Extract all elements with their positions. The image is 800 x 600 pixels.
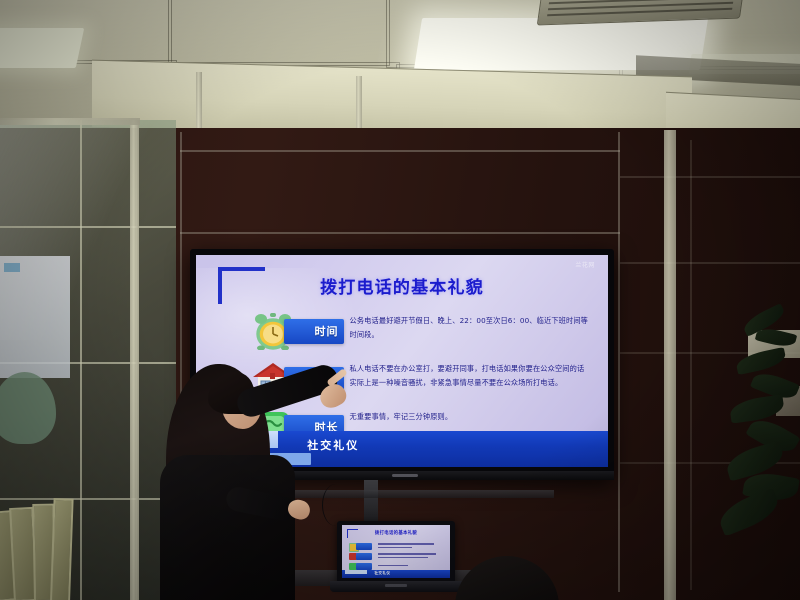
laptop-footer-label: 社交礼仪 [374, 571, 390, 576]
glass-partition [0, 120, 176, 600]
row-body-text: 无重要事情，牢记三分钟原则。 [344, 408, 592, 423]
reflected-person-silhouette [0, 372, 56, 444]
laptop-slide-row [356, 543, 434, 550]
row-body-text: 公务电话最好避开节假日、晚上、22：00至次日6：00、临近下班时间等时间段。 [344, 312, 592, 341]
ceiling-light-secondary [0, 28, 84, 68]
tv-stand-bar [254, 490, 554, 498]
mini-row-text [378, 553, 436, 559]
slide-title: 拨打电话的基本礼貌 [196, 273, 608, 298]
row-label: 时间 [315, 323, 339, 339]
row-label-chip: 时间 [284, 319, 344, 344]
wall-seam [180, 232, 620, 234]
mini-row-chip [356, 543, 372, 550]
tv-stand-column [364, 480, 378, 524]
wall-seam [690, 140, 692, 590]
mini-footer-accent [345, 570, 367, 575]
mini-row-text [378, 543, 434, 549]
slide-watermark: 兰花网 [575, 260, 595, 269]
wall-pillar [664, 130, 676, 600]
laptop-slide-title: 拨打电话的基本礼貌 [342, 530, 450, 536]
laptop-slide-footer: 社交礼仪 [342, 570, 450, 578]
laptop-touchpad[interactable] [385, 584, 407, 587]
soffit-divider [196, 72, 202, 136]
slide-footer-label: 社交礼仪 [307, 437, 359, 453]
reflected-poster [0, 256, 70, 378]
row-body-text: 私人电话不要在办公室打，要避开同事，打电话如果你要在公众空间的话实际上是一种噪音… [344, 360, 592, 389]
glass-frame-top [0, 118, 140, 125]
room-scene: 兰花网 拨打电话的基本礼貌 [0, 0, 800, 600]
glass-frame-post [130, 120, 139, 600]
tv-brand-logo [392, 474, 418, 477]
tv-power-cable [322, 484, 349, 526]
mini-row-chip [356, 553, 372, 560]
slide-row: 时间 公务电话最好避开节假日、晚上、22：00至次日6：00、临近下班时间等时间… [248, 312, 592, 352]
presenter-torso [160, 455, 295, 600]
wall-seam [620, 176, 800, 178]
wall-seam [618, 132, 620, 592]
wall-seam [180, 150, 620, 152]
poster-tag [4, 263, 19, 272]
mini-row-text [378, 565, 408, 568]
laptop-slide-row [356, 553, 436, 560]
icon-cell: 时间 [248, 312, 344, 350]
wall-seam [620, 262, 800, 264]
laptop-screen[interactable]: 拨打电话的基本礼貌 [342, 525, 450, 578]
